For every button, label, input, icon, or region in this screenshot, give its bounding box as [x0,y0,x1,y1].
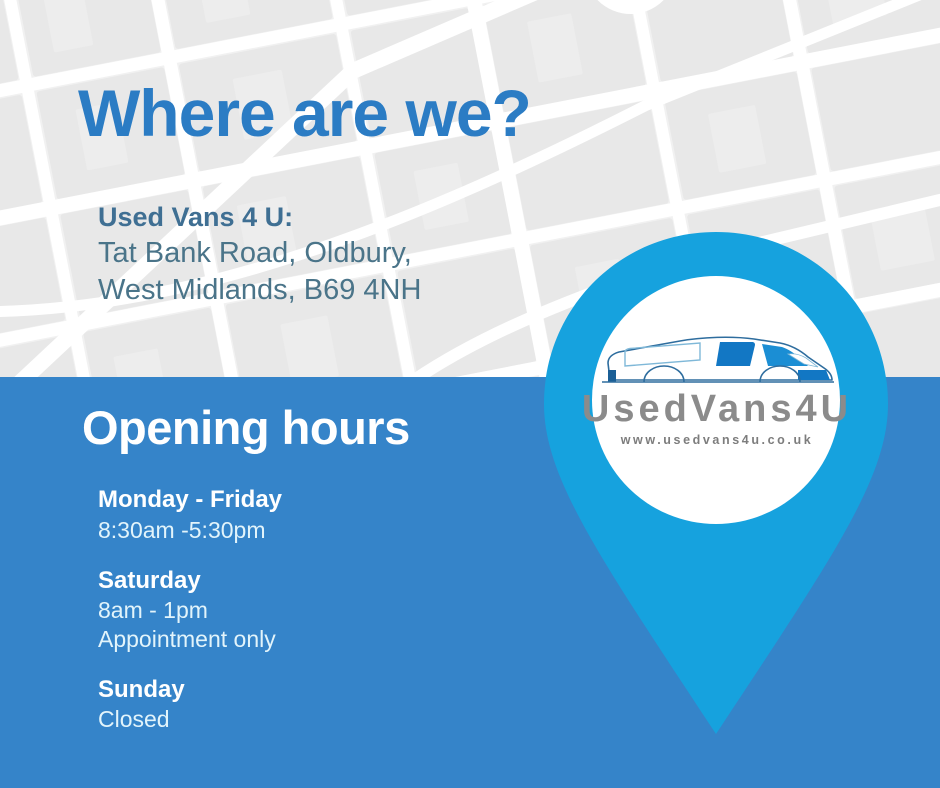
hours-day-label: Monday - Friday [98,485,498,516]
hours-time-value: Closed [98,705,498,733]
business-name: Used Vans 4 U: [98,200,421,235]
page-title: Where are we? [78,80,531,146]
address-line-2: West Midlands, B69 4NH [98,272,421,309]
opening-hours-list: Monday - Friday 8:30am -5:30pm Saturday … [98,485,498,733]
hours-time-value: 8:30am -5:30pm [98,516,498,544]
map-pin-icon [540,228,892,740]
list-item: Sunday Closed [98,675,498,734]
logo: UsedVans4U www.usedvans4u.co.uk [578,330,856,458]
van-icon [592,330,842,396]
logo-url: www.usedvans4u.co.uk [578,434,856,447]
address-line-1: Tat Bank Road, Oldbury, [98,235,421,272]
list-item: Saturday 8am - 1pm Appointment only [98,566,498,653]
address-block: Used Vans 4 U: Tat Bank Road, Oldbury, W… [98,200,421,309]
hours-note: Appointment only [98,625,498,653]
map-pin [540,228,892,740]
location-poster: Where are we? Used Vans 4 U: Tat Bank Ro… [0,0,940,788]
list-item: Monday - Friday 8:30am -5:30pm [98,485,498,544]
opening-hours-title: Opening hours [82,404,410,451]
hours-day-label: Sunday [98,675,498,706]
logo-name: UsedVans4U [578,390,856,428]
hours-time-value: 8am - 1pm [98,596,498,624]
hours-day-label: Saturday [98,566,498,597]
